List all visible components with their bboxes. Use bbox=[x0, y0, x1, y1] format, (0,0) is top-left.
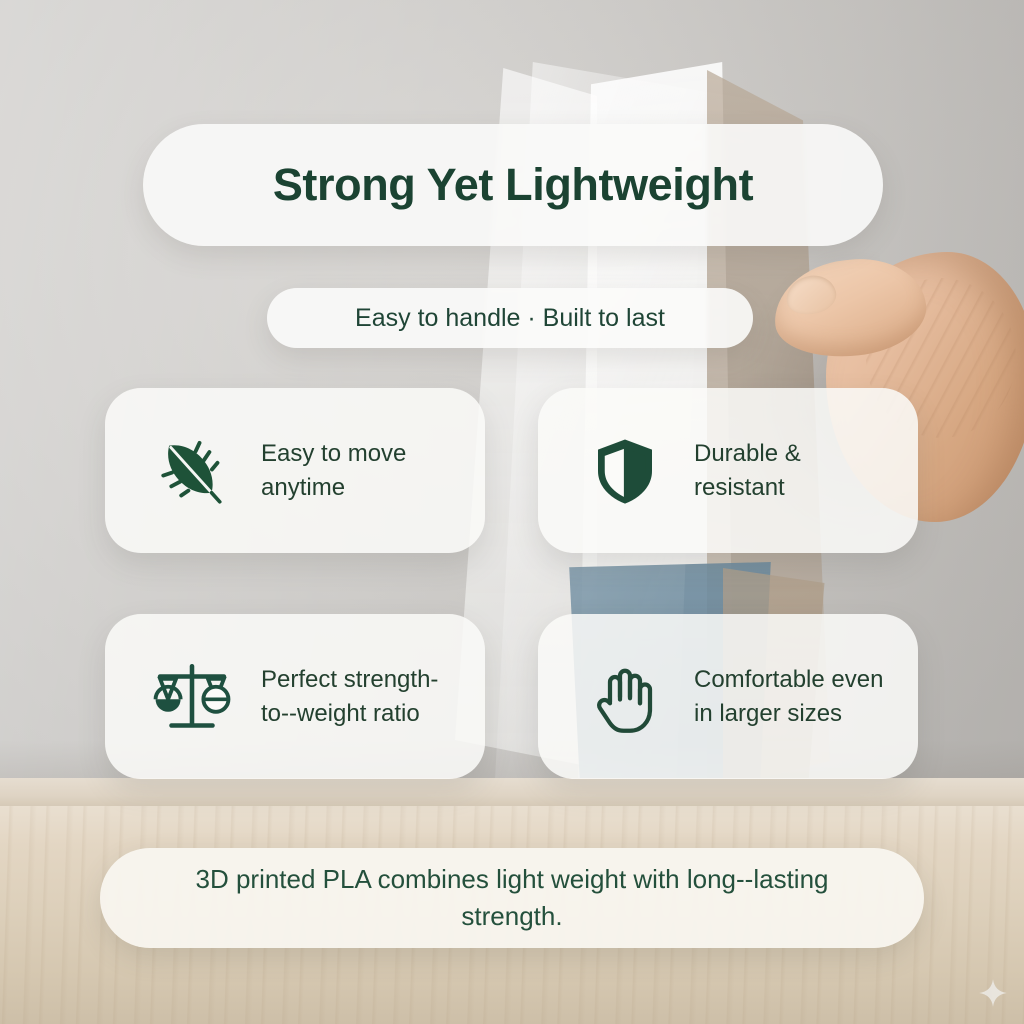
footer-banner: 3D printed PLA combines light weight wit… bbox=[100, 848, 924, 948]
sparkle-icon bbox=[978, 978, 1008, 1008]
title-banner: Strong Yet Lightweight bbox=[143, 124, 883, 246]
feature-card-strength-ratio[interactable]: Perfect strength-to--weight ratio bbox=[105, 614, 485, 779]
feature-label: Perfect strength-to--weight ratio bbox=[261, 663, 463, 729]
hand-icon bbox=[582, 654, 668, 740]
page-title: Strong Yet Lightweight bbox=[273, 159, 753, 211]
infographic-canvas: Strong Yet Lightweight Easy to handle · … bbox=[0, 0, 1024, 1024]
feature-card-easy-to-move[interactable]: Easy to move anytime bbox=[105, 388, 485, 553]
shield-icon bbox=[582, 428, 668, 514]
feature-card-durable[interactable]: Durable & resistant bbox=[538, 388, 918, 553]
scales-icon bbox=[149, 654, 235, 740]
footer-text: 3D printed PLA combines light weight wit… bbox=[152, 861, 872, 935]
feature-card-comfortable[interactable]: Comfortable even in larger sizes bbox=[538, 614, 918, 779]
feature-label: Easy to move anytime bbox=[261, 437, 463, 503]
feature-label: Comfortable even in larger sizes bbox=[694, 663, 896, 729]
feature-label: Durable & resistant bbox=[694, 437, 896, 503]
subtitle-banner: Easy to handle · Built to last bbox=[267, 288, 753, 348]
feather-icon bbox=[149, 428, 235, 514]
page-subtitle: Easy to handle · Built to last bbox=[355, 304, 665, 333]
